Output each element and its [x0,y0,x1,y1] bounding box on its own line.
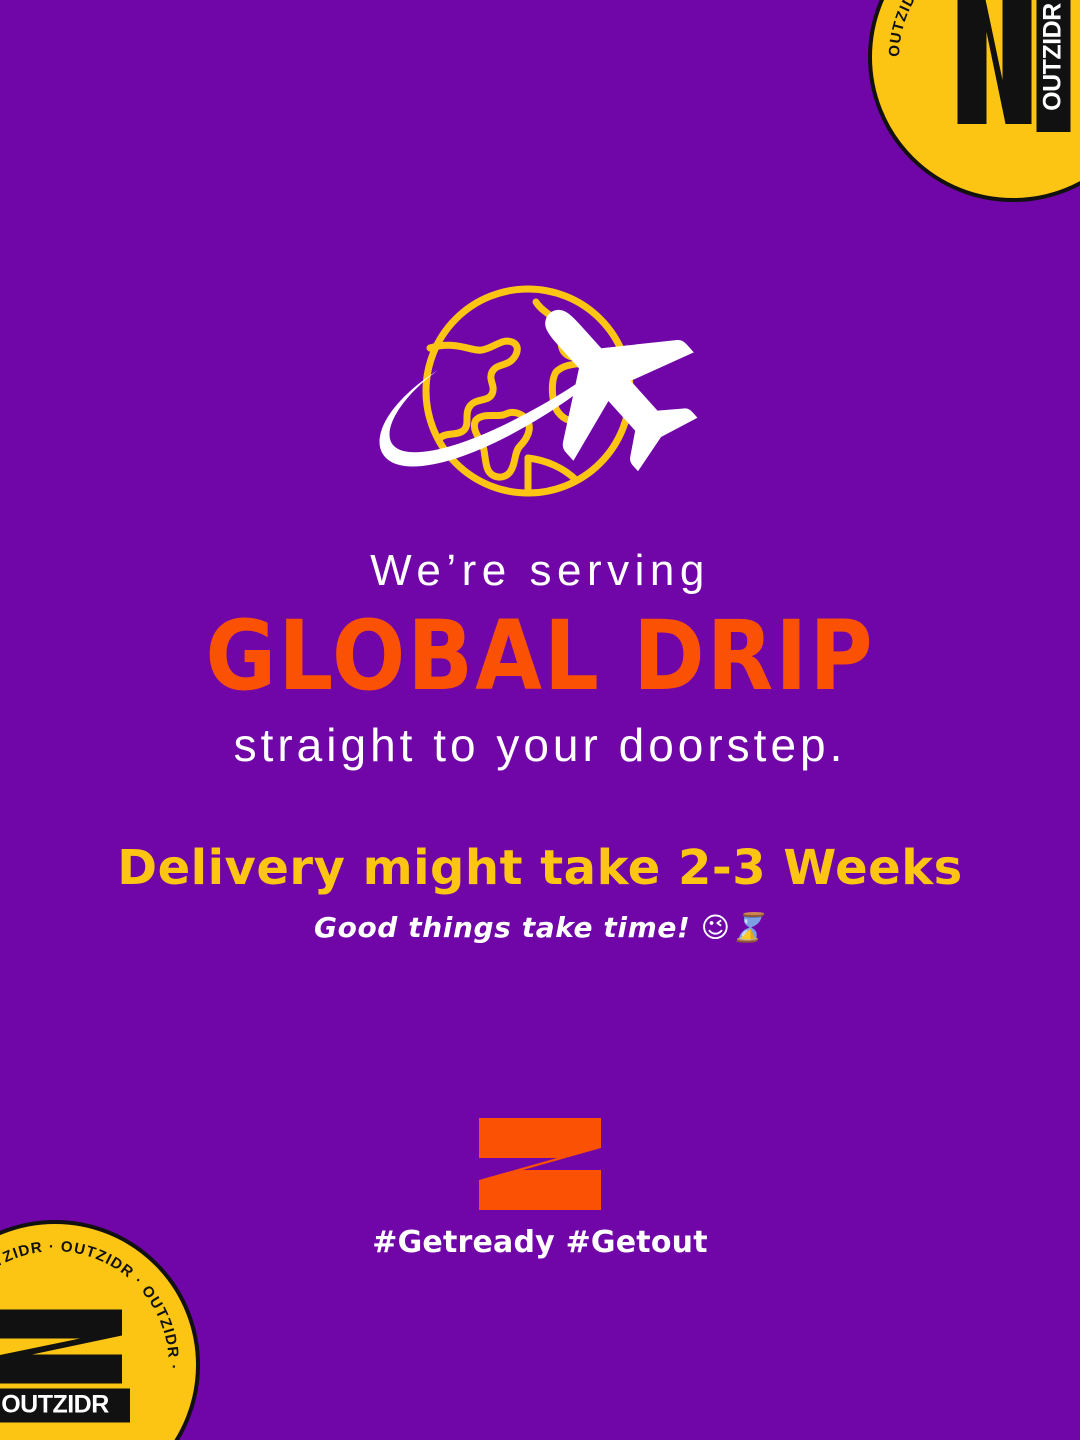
badge-wordmark-bar-top-right: OUTZIDR [1037,0,1071,132]
z-monogram-icon [0,1308,130,1386]
airplane-icon [489,278,720,499]
badge-wordmark-top-right: OUTZIDR [1039,3,1067,111]
subhead-text: straight to your doorstep. [0,721,1080,769]
headline-text: GLOBAL DRIP [0,606,1080,707]
badge-wordmark-bottom-left: OUTZIDR [1,1391,109,1419]
poster-canvas: OUTZIDR · OUTZIDR · OUTZIDR · OUTZIDR · … [0,0,1080,1440]
delivery-notice-text: Delivery might take 2-3 Weeks [0,843,1080,893]
globe-with-airplane-icon [360,278,720,508]
z-monogram-icon [956,0,1034,132]
reassurance-text: Good things take time! 😉⌛ [0,913,1080,942]
badge-wordmark-bar-bottom-left: OUTZIDR [0,1389,130,1423]
badge-top-right: OUTZIDR · OUTZIDR · OUTZIDR · OUTZIDR · … [868,0,1080,202]
badge-core-bottom-left: OUTZIDR [0,1308,130,1423]
badge-bottom-left: OUTZIDR · OUTZIDR · OUTZIDR · OUTZIDR · … [0,1220,200,1440]
eyebrow-text: We’re serving [0,548,1080,594]
badge-core-top-right: OUTZIDR [956,0,1071,132]
copy-block: We’re serving GLOBAL DRIP straight to yo… [0,548,1080,942]
outzidr-z-logo [479,1118,601,1210]
